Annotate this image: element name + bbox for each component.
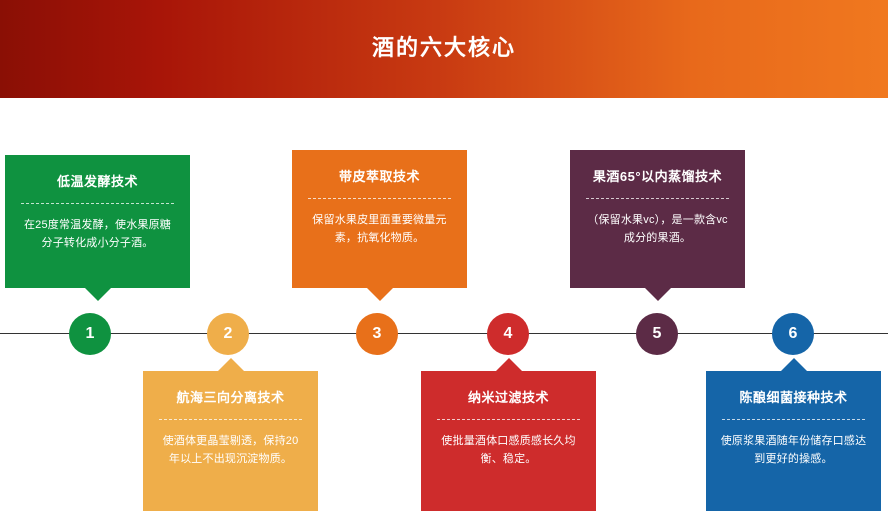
milestone-card-4[interactable]: 纳米过滤技术 使批量酒体口感质感长久均衡、稳定。 [421,371,596,511]
card-divider-5 [586,198,729,199]
milestone-card-1[interactable]: 低温发酵技术 在25度常温发酵，使水果原糖分子转化成小分子酒。 [5,155,190,288]
timeline-node-1[interactable]: 1 [69,313,111,355]
page-title: 酒的六大核心 [0,0,888,98]
timeline-node-label-2: 2 [224,325,233,343]
card-pointer-down-icon-1 [85,288,111,301]
milestone-card-3[interactable]: 带皮萃取技术 保留水果皮里面重要微量元素，抗氧化物质。 [292,150,467,288]
header-banner: 酒的六大核心 [0,0,888,98]
card-body-6: 使原浆果酒随年份储存口感达到更好的操感。 [720,432,867,468]
card-title-4: 纳米过滤技术 [435,389,582,407]
card-body-1: 在25度常温发酵，使水果原糖分子转化成小分子酒。 [19,216,176,252]
card-body-2: 使酒体更晶莹剔透，保持20年以上不出现沉淀物质。 [157,432,304,468]
timeline-node-label-6: 6 [789,325,798,343]
timeline-node-label-5: 5 [653,325,662,343]
card-pointer-up-icon-4 [496,358,522,371]
card-pointer-up-icon-2 [218,358,244,371]
card-body-3: 保留水果皮里面重要微量元素，抗氧化物质。 [306,211,453,247]
timeline-node-6[interactable]: 6 [772,313,814,355]
timeline-node-label-3: 3 [373,325,382,343]
timeline-axis [0,333,888,334]
milestone-card-5[interactable]: 果酒65°以内蒸馏技术 （保留水果vc），是一款含vc成分的果酒。 [570,150,745,288]
timeline-node-label-4: 4 [504,325,513,343]
timeline-node-4[interactable]: 4 [487,313,529,355]
card-title-2: 航海三向分离技术 [157,389,304,407]
card-divider-1 [21,203,174,204]
card-title-5: 果酒65°以内蒸馏技术 [584,168,731,186]
card-divider-4 [437,419,580,420]
card-divider-6 [722,419,865,420]
card-title-3: 带皮萃取技术 [306,168,453,186]
timeline-node-label-1: 1 [86,325,95,343]
card-body-5: （保留水果vc），是一款含vc成分的果酒。 [584,211,731,247]
card-pointer-down-icon-3 [367,288,393,301]
milestone-card-6[interactable]: 陈酿细菌接种技术 使原浆果酒随年份储存口感达到更好的操感。 [706,371,881,511]
card-body-4: 使批量酒体口感质感长久均衡、稳定。 [435,432,582,468]
card-divider-3 [308,198,451,199]
card-title-1: 低温发酵技术 [19,173,176,191]
timeline-node-5[interactable]: 5 [636,313,678,355]
card-title-6: 陈酿细菌接种技术 [720,389,867,407]
card-pointer-up-icon-6 [781,358,807,371]
timeline-node-3[interactable]: 3 [356,313,398,355]
milestone-card-2[interactable]: 航海三向分离技术 使酒体更晶莹剔透，保持20年以上不出现沉淀物质。 [143,371,318,511]
timeline-node-2[interactable]: 2 [207,313,249,355]
card-pointer-down-icon-5 [645,288,671,301]
card-divider-2 [159,419,302,420]
